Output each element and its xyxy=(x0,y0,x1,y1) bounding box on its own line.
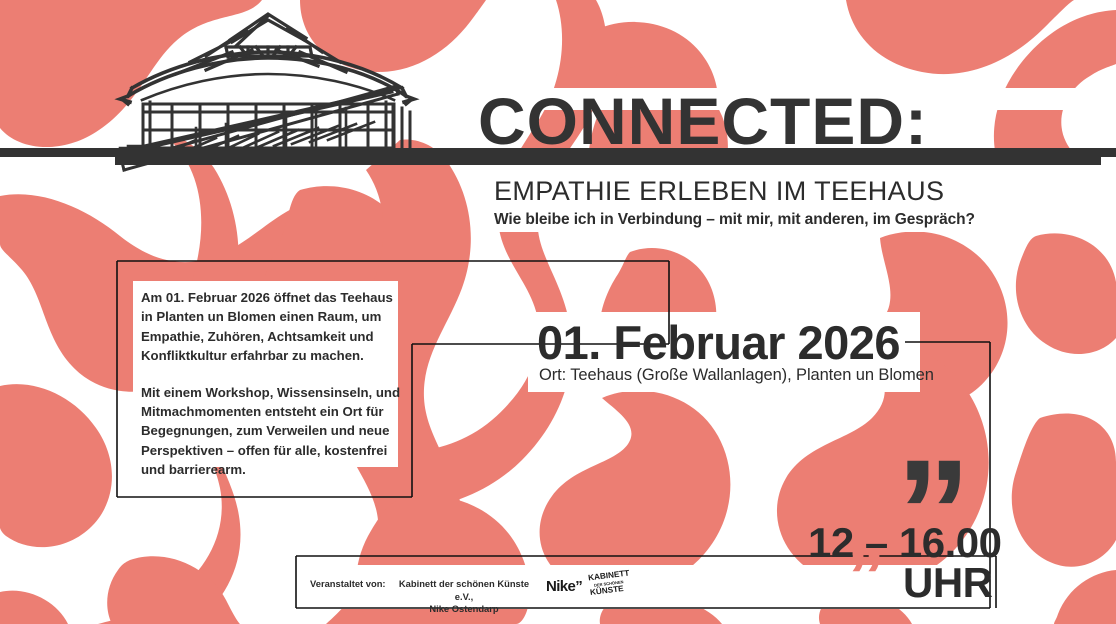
kabinett-der-schoenen-kuenste-logo: KABINETT DER SCHÖNEN KÜNSTE xyxy=(586,570,632,602)
presented-by-label: Veranstaltet von: xyxy=(310,578,386,589)
tagline: Wie bleibe ich in Verbindung – mit mir, … xyxy=(494,211,975,229)
event-time-unit: UHR xyxy=(903,559,993,607)
subtitle: EMPATHIE ERLEBEN IM TEEHAUS xyxy=(494,176,944,207)
page-title: CONNECTED: xyxy=(478,88,928,154)
organizer-line-2: Nike Ostendarp xyxy=(429,603,498,614)
body-paragraph-2: Mit einem Workshop, Wissensinseln, und M… xyxy=(141,383,403,480)
organizer-credit: Kabinett der schönen Künste e.V., Nike O… xyxy=(394,578,534,616)
event-venue: Ort: Teehaus (Große Wallanlagen), Plante… xyxy=(539,366,934,385)
event-date: 01. Februar 2026 xyxy=(537,315,900,370)
poster-canvas: CONNECTED: EMPATHIE ERLEBEN IM TEEHAUS W… xyxy=(0,0,1116,624)
title-block: CONNECTED: xyxy=(478,88,928,154)
organizer-line-1: Kabinett der schönen Künste e.V., xyxy=(399,578,529,602)
body-paragraph-1: Am 01. Februar 2026 öffnet das Teehaus i… xyxy=(141,288,403,366)
title-underline-rule xyxy=(0,148,1116,157)
body-copy-block: Am 01. Februar 2026 öffnet das Teehaus i… xyxy=(141,288,403,480)
nike-ostendarp-logo: Nike” xyxy=(546,578,582,595)
